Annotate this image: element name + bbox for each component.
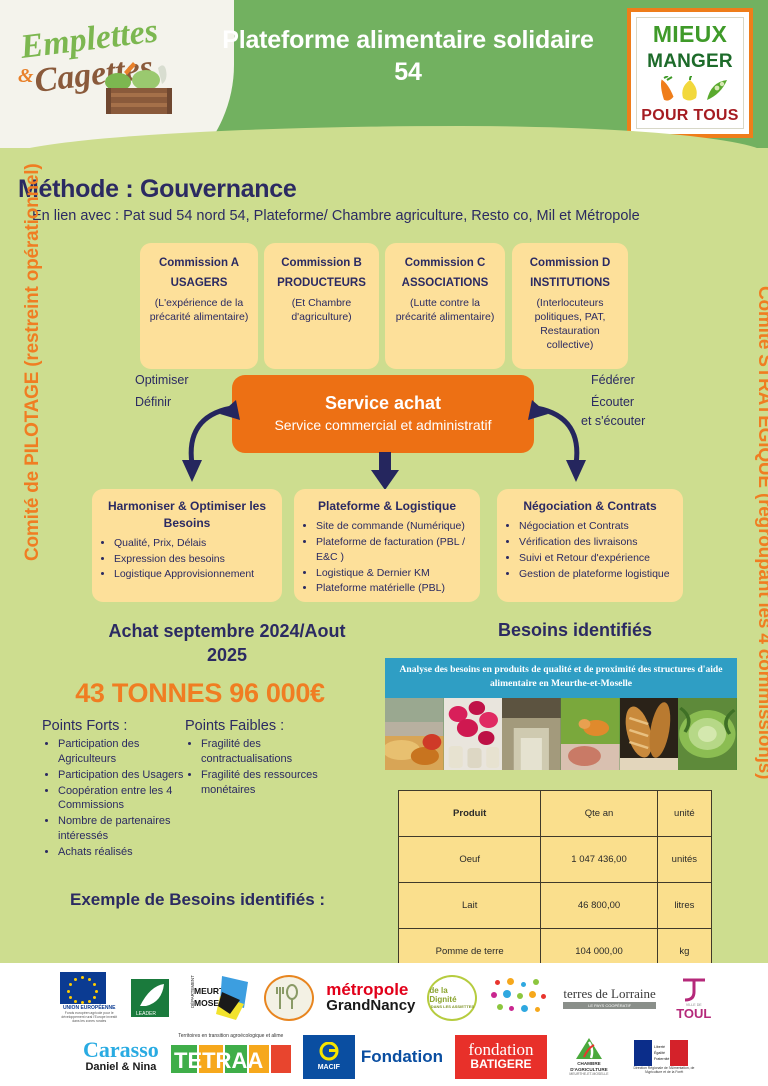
logo-departement-meurthe-et-moselle: DÉPARTEMENT MEURTHE MOSELLE [182, 974, 252, 1022]
commission-role: USAGERS [146, 273, 252, 295]
commission-name: Commission A [146, 255, 252, 273]
action-item: Vérification des livraisons [519, 535, 675, 550]
eu-flag-icon [60, 972, 106, 1004]
action-item-list: Qualité, Prix, Délais Expression des bes… [114, 536, 274, 583]
chambre-agriculture-label: CHAMBRE D'AGRICULTURE [559, 1061, 619, 1071]
table-row: Oeuf 1 047 436,00 unités [399, 837, 712, 883]
action-item: Expression des besoins [114, 552, 274, 567]
table-header-cell: Qte an [541, 791, 657, 837]
dots-cluster-icon [489, 976, 551, 1020]
commission-name: Commission B [270, 255, 373, 273]
points-faibles-title: Points Faibles : [185, 718, 350, 734]
partner-logo-row-2: Carasso Daniel & Nina Territoires en tra… [40, 1029, 740, 1084]
svg-text:Égalité: Égalité [654, 1050, 665, 1055]
logo-fondation-carasso: Carasso Daniel & Nina [83, 1039, 159, 1073]
comite-strategique-label: Comité STRATEGIQUE (regroupant les 4 com… [753, 286, 768, 596]
table-row: Lait 46 800,00 litres [399, 883, 712, 929]
points-faibles-item: Fragilité des contractualisations [201, 737, 350, 767]
achat-figures: 43 TONNES 96 000€ [40, 678, 360, 709]
commission-description: (L'expérience de la précarité alimentair… [146, 296, 252, 324]
table-cell-unit: litres [657, 883, 711, 929]
svg-text:Fraternité: Fraternité [654, 1057, 669, 1061]
commission-description: (Interlocuteurs politiques, PAT, Restaur… [518, 296, 622, 352]
dignite-label: de la Dignité [429, 987, 475, 1005]
toul-label: TOUL [676, 1007, 711, 1020]
partner-logo-row-1: UNION EUROPÉENNE Fonds européen agricole… [40, 967, 740, 1029]
commission-name: Commission C [391, 255, 499, 273]
action-item: Logistique & Dernier KM [316, 566, 472, 581]
besoins-table: Produit Qte an unité Oeuf 1 047 436,00 u… [398, 790, 712, 975]
action-item: Logistique Approvisionnement [114, 567, 274, 582]
logo-metropole-grand-nancy: métropole GrandNancy [326, 982, 415, 1014]
action-item: Site de commande (Numérique) [316, 519, 472, 534]
action-title: Plateforme & Logistique [302, 498, 472, 515]
commission-name: Commission D [518, 255, 622, 273]
points-forts-title: Points Forts : [42, 718, 187, 734]
curved-arrow-left-icon [170, 390, 250, 490]
points-faibles-list: Fragilité des contractualisations Fragil… [201, 737, 350, 797]
pour-tous-label: POUR TOUS [641, 108, 739, 124]
fondation-macif-label: Fondation [361, 1047, 443, 1067]
logo-fondation-macif: MACIF Fondation [303, 1035, 443, 1079]
points-forts-item: Nombre de partenaires intéressés [58, 814, 187, 844]
logo-tetraa: Territoires en transition agroécologique… [171, 1034, 291, 1080]
toul-symbol-icon [679, 977, 709, 1003]
mieux-manger-pour-tous-logo: MIEUX MANGER POUR TOUS [627, 8, 753, 138]
photo-cell-cabbage [678, 698, 737, 770]
action-item: Qualité, Prix, Délais [114, 536, 274, 551]
logo-projet-alimentaire-territorial [264, 975, 314, 1021]
commission-card[interactable]: Commission A USAGERS (L'expérience de la… [140, 243, 258, 369]
mieux-label: MIEUX [653, 23, 727, 46]
macif-badge-icon: MACIF [303, 1035, 355, 1079]
header-band: Emplettes & Cagettes Plateforme alimenta… [0, 0, 768, 148]
chambre-agriculture-sublabel: MEURTHE-ET-MOSELLE [569, 1072, 608, 1076]
commission-role: INSTITUTIONS [518, 273, 622, 295]
achat-period-heading: Achat septembre 2024/Aout 2025 [92, 620, 362, 668]
metropole-label: métropole [326, 982, 415, 998]
action-item: Plateforme matérielle (PBL) [316, 581, 472, 596]
logo-prefecture-republique-francaise: Liberté Égalité Fraternité Direction Rég… [631, 1034, 697, 1080]
batigere-label: BATIGERE [470, 1058, 531, 1071]
action-card[interactable]: Plateforme & Logistique Site de commande… [294, 489, 480, 602]
batigere-fondation-label: fondation [468, 1041, 533, 1058]
action-item-list: Site de commande (Numérique) Plateforme … [316, 519, 472, 597]
points-forts-block: Points Forts : Participation des Agricul… [42, 718, 187, 861]
points-forts-item: Coopération entre les 4 Commissions [58, 784, 187, 814]
table-cell-unit: unités [657, 837, 711, 883]
logo-chambre-agriculture: CHAMBRE D'AGRICULTURE MEURTHE-ET-MOSELLE [559, 1034, 619, 1080]
service-achat-card[interactable]: Service achat Service commercial et admi… [232, 375, 534, 453]
table-header-cell: Produit [399, 791, 541, 837]
photo-cell-bread [620, 698, 679, 770]
points-faibles-item: Fragilité des ressources monétaires [201, 768, 350, 798]
pat-circle-icon [264, 975, 314, 1021]
table-cell-product: Lait [399, 883, 541, 929]
vegetables-icon [645, 76, 735, 104]
table-cell-product: Oeuf [399, 837, 541, 883]
logo-terres-de-lorraine: terres de Lorraine LE PAYS COOPÉRATIF [563, 987, 655, 1010]
study-cover-image: Analyse des besoins en produits de quali… [385, 658, 737, 770]
logo-fondation-batigere: fondation BATIGERE [455, 1035, 547, 1079]
logo-union-europeenne-sublabel: Fonds européen agricole pour le développ… [60, 1012, 118, 1024]
action-item: Suivi et Retour d'expérience [519, 551, 675, 566]
commission-card[interactable]: Commission D INSTITUTIONS (Interlocuteur… [512, 243, 628, 369]
logo-leader: LEADER [130, 978, 170, 1018]
curved-arrow-right-icon [518, 390, 598, 490]
carasso-label: Carasso [83, 1039, 159, 1061]
comite-pilotage-label: Comité de PILOTAGE (restreint opérationn… [22, 301, 44, 561]
partner-logos-footer: UNION EUROPÉENNE Fonds européen agricole… [0, 963, 768, 1086]
carasso-sublabel: Daniel & Nina [85, 1061, 156, 1073]
method-subtitle: En lien avec : Pat sud 54 nord 54, Plate… [32, 208, 640, 224]
action-card[interactable]: Harmoniser & Optimiser les Besoins Quali… [92, 489, 282, 602]
table-cell-quantity: 1 047 436,00 [541, 837, 657, 883]
prefecture-sublabel: Direction Régionale de l'Alimentation, d… [631, 1067, 697, 1075]
page-title: Plateforme alimentaire solidaire 54 [208, 24, 608, 88]
study-cover-caption: Analyse des besoins en produits de quali… [385, 658, 737, 698]
table-header-cell: unité [657, 791, 711, 837]
table-header-row: Produit Qte an unité [399, 791, 712, 837]
dignite-sublabel: DANS LES ASSIETTES [431, 1005, 474, 1009]
photo-cell-field-animal [561, 698, 620, 770]
meurthe-moselle-icon: DÉPARTEMENT MEURTHE MOSELLE [182, 974, 252, 1022]
poster-root: Emplettes & Cagettes Plateforme alimenta… [0, 0, 768, 1086]
terres-de-lorraine-sublabel: LE PAYS COOPÉRATIF [563, 1002, 655, 1009]
tetraa-wordmark-icon: TETRAA [171, 1039, 291, 1079]
method-title: Méthode : Gouvernance [18, 175, 296, 204]
exemple-besoins-title: Exemple de Besoins identifiés : [70, 890, 325, 910]
action-title: Harmoniser & Optimiser les Besoins [100, 498, 274, 532]
logo-ville-de-toul: VILLE DE TOUL [668, 975, 720, 1021]
action-item-list: Négociation et Contrats Vérification des… [519, 519, 675, 582]
points-faibles-block: Points Faibles : Fragilité des contractu… [185, 718, 350, 798]
logo-dots-network [489, 976, 551, 1020]
table-cell-quantity: 46 800,00 [541, 883, 657, 929]
points-forts-item: Participation des Usagers [58, 768, 187, 783]
photo-cell-radishes [444, 698, 503, 770]
action-item: Gestion de plateforme logistique [519, 567, 675, 582]
photo-cell-bread-tomato [385, 698, 444, 770]
svg-text:&: & [18, 65, 34, 87]
leader-leaf-icon: LEADER [130, 978, 170, 1018]
flow-word-optimiser: Optimiser [135, 373, 188, 387]
svg-text:TETRAA: TETRAA [174, 1048, 263, 1073]
commission-role: ASSOCIATIONS [391, 273, 499, 295]
commission-role: PRODUCTEURS [270, 273, 373, 295]
action-item: Plateforme de facturation (PBL / E&C ) [316, 535, 472, 565]
chambre-agriculture-icon [574, 1037, 604, 1061]
svg-text:Liberté: Liberté [654, 1045, 665, 1049]
commission-card[interactable]: Commission B PRODUCTEURS (Et Chambre d'a… [264, 243, 379, 369]
flow-word-federer: Fédérer [591, 373, 635, 387]
commission-description: (Et Chambre d'agriculture) [270, 296, 373, 324]
arrow-down-icon [368, 452, 402, 492]
service-achat-subtitle: Service commercial et administratif [274, 416, 491, 435]
commission-description: (Lutte contre la précarité alimentaire) [391, 296, 499, 324]
macif-label: MACIF [318, 1064, 340, 1071]
besoins-identifies-title: Besoins identifiés [450, 620, 700, 641]
commission-card[interactable]: Commission C ASSOCIATIONS (Lutte contre … [385, 243, 505, 369]
logo-de-la-dignite-dans-les-assiettes: de la Dignité DANS LES ASSIETTES [427, 975, 477, 1021]
points-forts-item: Participation des Agriculteurs [58, 737, 187, 767]
action-item: Négociation et Contrats [519, 519, 675, 534]
points-forts-list: Participation des Agriculteurs Participa… [58, 737, 187, 860]
manger-label: MANGER [647, 52, 733, 71]
marianne-icon: Liberté Égalité Fraternité [633, 1039, 695, 1067]
photo-strip [385, 698, 737, 770]
action-title: Négociation & Contrats [505, 498, 675, 515]
terres-de-lorraine-label: terres de Lorraine [563, 987, 655, 1001]
leader-label: LEADER [136, 1011, 156, 1017]
emplettes-cagettes-logo: Emplettes & Cagettes [6, 10, 186, 128]
action-card[interactable]: Négociation & Contrats Négociation et Co… [497, 489, 683, 602]
flow-word-definir: Définir [135, 395, 171, 409]
points-forts-item: Achats réalisés [58, 845, 187, 860]
grand-nancy-label: GrandNancy [326, 998, 415, 1014]
logo-union-europeenne: UNION EUROPÉENNE Fonds européen agricole… [60, 972, 118, 1023]
photo-cell-greenhouse [502, 698, 561, 770]
service-achat-title: Service achat [325, 393, 441, 415]
